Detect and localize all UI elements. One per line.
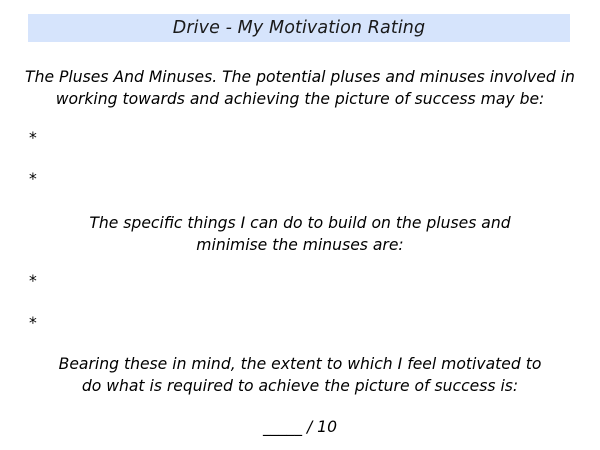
rating-score-field[interactable]: _____ / 10 (0, 418, 600, 436)
worksheet-slide: Drive - My Motivation Rating The Pluses … (0, 0, 600, 450)
bottom-paragraph: Bearing these in mind, the extent to whi… (50, 353, 550, 397)
list-item[interactable]: * (29, 171, 37, 187)
middle-paragraph: The specific things I can do to build on… (80, 212, 520, 256)
list-item[interactable]: * (29, 130, 37, 146)
list-item[interactable]: * (29, 315, 37, 331)
intro-paragraph: The Pluses And Minuses. The potential pl… (24, 66, 576, 110)
page-title: Drive - My Motivation Rating (173, 18, 425, 38)
list-item[interactable]: * (29, 273, 37, 289)
title-banner: Drive - My Motivation Rating (28, 14, 570, 42)
